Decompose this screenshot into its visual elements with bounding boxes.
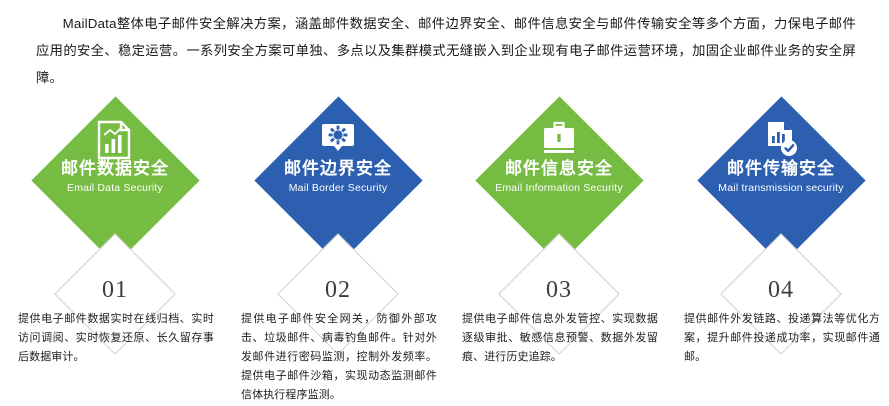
card-2[interactable]: 邮件边界安全 Mail Border Security 02 提供电子邮件安全网… bbox=[227, 88, 449, 406]
cards-row: 邮件数据安全 Email Data Security 01 提供电子邮件数据实时… bbox=[0, 88, 889, 406]
card-2-number: 02 bbox=[277, 277, 399, 304]
card-1-number: 01 bbox=[54, 277, 176, 304]
card-1[interactable]: 邮件数据安全 Email Data Security 01 提供电子邮件数据实时… bbox=[4, 88, 226, 406]
card-3-caption: 提供电子邮件信息外发管控、实现数据逐级审批、敏感信息预警、数据外发留痕、进行历史… bbox=[462, 310, 658, 367]
card-4-caption: 提供邮件外发链路、投递算法等优化方案，提升邮件投递成功率，实现邮件通邮。 bbox=[684, 310, 880, 367]
card-3-number: 03 bbox=[498, 277, 620, 304]
card-4-number: 04 bbox=[720, 277, 842, 304]
card-1-caption: 提供电子邮件数据实时在线归档、实时访问调阅、实时恢复还原、长久留存事后数据审计。 bbox=[18, 310, 214, 367]
intro-paragraph: MailData整体电子邮件安全解决方案，涵盖邮件数据安全、邮件边界安全、邮件信… bbox=[36, 10, 856, 91]
card-2-caption: 提供电子邮件安全网关，防御外部攻击、垃圾邮件、病毒钓鱼邮件。针对外发邮件进行密码… bbox=[241, 310, 437, 405]
chart-document-icon bbox=[92, 120, 138, 160]
document-chart-icon bbox=[758, 120, 804, 160]
infographic-root: MailData整体电子邮件安全解决方案，涵盖邮件数据安全、邮件边界安全、邮件信… bbox=[0, 0, 889, 406]
briefcase-icon bbox=[536, 120, 582, 160]
card-4[interactable]: 邮件传输安全 Mail transmission security 04 提供邮… bbox=[670, 88, 889, 406]
card-3[interactable]: 邮件信息安全 Email Information Security 03 提供电… bbox=[448, 88, 670, 406]
gear-shield-icon bbox=[315, 120, 361, 160]
